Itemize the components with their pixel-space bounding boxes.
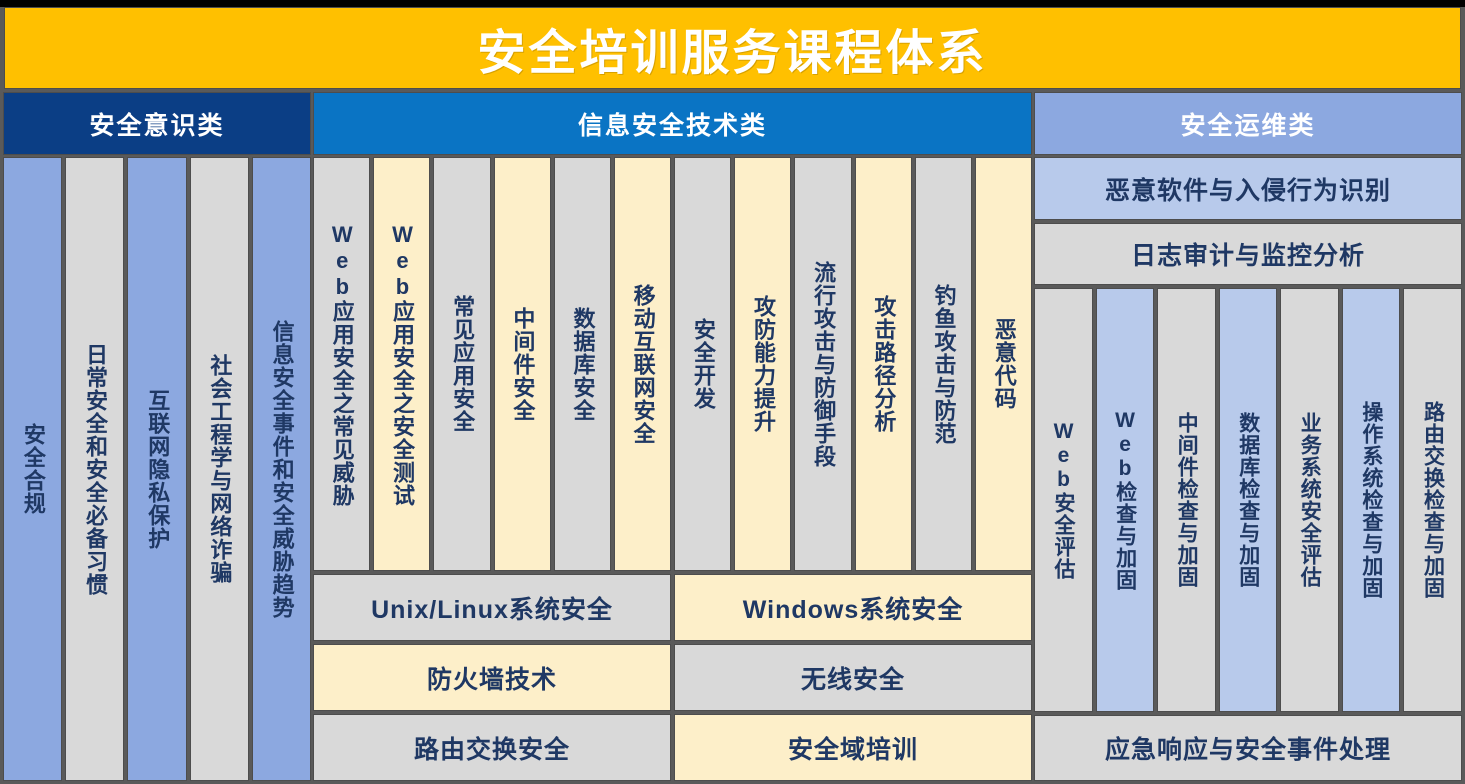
technology-bottom-row-0: Unix/Linux系统安全Windows系统安全	[313, 574, 1032, 641]
technology-bottom-rows: Unix/Linux系统安全Windows系统安全防火墙技术无线安全路由交换安全…	[313, 574, 1032, 781]
technology-item-0[interactable]: Web应用安全之常见威胁	[313, 157, 370, 571]
operations-item-2-label: 中间件检查与加固	[1176, 412, 1197, 588]
section-header-awareness-label: 安全意识类	[89, 106, 224, 142]
awareness-item-1-label: 日常安全和安全必备习惯	[84, 343, 106, 596]
technology-bottom-2-cell-1-label: 安全域培训	[788, 730, 918, 766]
technology-item-7-label: 攻防能力提升	[752, 295, 774, 433]
awareness-item-4[interactable]: 信息安全事件和安全威胁趋势	[252, 157, 311, 781]
awareness-item-3[interactable]: 社会工程学与网络诈骗	[190, 157, 249, 781]
technology-bottom-2-cell-0-label: 路由交换安全	[414, 730, 570, 766]
technology-item-1[interactable]: Web应用安全之安全测试	[373, 157, 430, 571]
technology-item-4-label: 数据库安全	[571, 307, 593, 422]
operations-item-0[interactable]: Web安全评估	[1034, 288, 1093, 712]
operations-row-logaudit-label: 日志审计与监控分析	[1131, 236, 1365, 272]
section-header-operations-label: 安全运维类	[1180, 106, 1315, 142]
operations-item-0-label: Web安全评估	[1053, 420, 1074, 580]
awareness-item-2[interactable]: 互联网隐私保护	[127, 157, 186, 781]
technology-item-8[interactable]: 流行攻击与防御手段	[794, 157, 851, 571]
technology-item-2-label: 常见应用安全	[451, 295, 473, 433]
operations-item-4[interactable]: 业务系统安全评估	[1280, 288, 1339, 712]
operations-stack: 恶意软件与入侵行为识别 日志审计与监控分析 Web安全评估Web检查与加固中间件…	[1034, 157, 1462, 781]
technology-bottom-1-cell-0-label: 防火墙技术	[427, 660, 557, 696]
operations-row-incident[interactable]: 应急响应与安全事件处理	[1034, 715, 1462, 781]
awareness-item-1[interactable]: 日常安全和安全必备习惯	[65, 157, 124, 781]
technology-bottom-0-cell-0-label: Unix/Linux系统安全	[371, 590, 613, 626]
operations-column-list: Web安全评估Web检查与加固中间件检查与加固数据库检查与加固业务系统安全评估操…	[1034, 288, 1462, 712]
technology-bottom-row-1: 防火墙技术无线安全	[313, 644, 1032, 711]
top-black-strip	[0, 0, 1465, 7]
section-header-awareness[interactable]: 安全意识类	[3, 92, 311, 155]
operations-item-4-label: 业务系统安全评估	[1299, 412, 1320, 588]
technology-item-1-label: Web应用安全之安全测试	[391, 222, 413, 507]
page-title: 安全培训服务课程体系	[477, 13, 987, 83]
technology-item-10[interactable]: 钓鱼攻击与防范	[915, 157, 972, 571]
operations-item-6[interactable]: 路由交换检查与加固	[1403, 288, 1462, 712]
section-header-technology-label: 信息安全技术类	[578, 106, 767, 142]
technology-bottom-1-cell-1[interactable]: 无线安全	[674, 644, 1032, 711]
technology-item-5-label: 移动互联网安全	[631, 284, 653, 445]
technology-item-5[interactable]: 移动互联网安全	[614, 157, 671, 571]
technology-bottom-row-2: 路由交换安全安全域培训	[313, 714, 1032, 781]
technology-item-6-label: 安全开发	[691, 318, 713, 410]
technology-bottom-0-cell-0[interactable]: Unix/Linux系统安全	[313, 574, 671, 641]
operations-row-incident-label: 应急响应与安全事件处理	[1105, 730, 1391, 766]
technology-item-2[interactable]: 常见应用安全	[433, 157, 490, 571]
operations-item-1-label: Web检查与加固	[1114, 409, 1135, 591]
section-body-operations: 恶意软件与入侵行为识别 日志审计与监控分析 Web安全评估Web检查与加固中间件…	[1034, 157, 1462, 781]
awareness-item-0-label: 安全合规	[21, 423, 43, 515]
awareness-item-0[interactable]: 安全合规	[3, 157, 62, 781]
technology-item-4[interactable]: 数据库安全	[554, 157, 611, 571]
technology-column-list: Web应用安全之常见威胁Web应用安全之安全测试常见应用安全中间件安全数据库安全…	[313, 157, 1032, 571]
technology-bottom-1-cell-1-label: 无线安全	[801, 660, 905, 696]
technology-bottom-1-cell-0[interactable]: 防火墙技术	[313, 644, 671, 711]
technology-item-11[interactable]: 恶意代码	[975, 157, 1032, 571]
technology-item-3[interactable]: 中间件安全	[494, 157, 551, 571]
awareness-column-list: 安全合规日常安全和安全必备习惯互联网隐私保护社会工程学与网络诈骗信息安全事件和安…	[3, 157, 311, 781]
operations-row-logaudit[interactable]: 日志审计与监控分析	[1034, 223, 1462, 285]
operations-item-5-label: 操作系统检查与加固	[1360, 401, 1381, 599]
awareness-item-4-label: 信息安全事件和安全威胁趋势	[270, 320, 292, 619]
operations-row-malware-label: 恶意软件与入侵行为识别	[1105, 171, 1391, 207]
operations-item-5[interactable]: 操作系统检查与加固	[1342, 288, 1401, 712]
technology-item-3-label: 中间件安全	[511, 307, 533, 422]
technology-item-11-label: 恶意代码	[992, 318, 1014, 410]
technology-bottom-0-cell-1-label: Windows系统安全	[743, 590, 964, 626]
course-system-diagram: 安全培训服务课程体系 安全意识类 信息安全技术类 安全运维类 安全合规日常安全和…	[0, 0, 1465, 784]
technology-item-8-label: 流行攻击与防御手段	[812, 261, 834, 468]
awareness-item-2-label: 互联网隐私保护	[146, 389, 168, 550]
technology-item-0-label: Web应用安全之常见威胁	[330, 222, 352, 507]
operations-item-6-label: 路由交换检查与加固	[1422, 401, 1443, 599]
technology-item-10-label: 钓鱼攻击与防范	[932, 284, 954, 445]
technology-item-9-label: 攻击路径分析	[872, 295, 894, 433]
operations-item-3[interactable]: 数据库检查与加固	[1219, 288, 1278, 712]
section-body-technology: Web应用安全之常见威胁Web应用安全之安全测试常见应用安全中间件安全数据库安全…	[313, 157, 1032, 781]
technology-item-6[interactable]: 安全开发	[674, 157, 731, 571]
technology-item-7[interactable]: 攻防能力提升	[734, 157, 791, 571]
operations-item-2[interactable]: 中间件检查与加固	[1157, 288, 1216, 712]
operations-row-malware[interactable]: 恶意软件与入侵行为识别	[1034, 157, 1462, 220]
technology-bottom-2-cell-1[interactable]: 安全域培训	[674, 714, 1032, 781]
operations-item-1[interactable]: Web检查与加固	[1096, 288, 1155, 712]
section-body-awareness: 安全合规日常安全和安全必备习惯互联网隐私保护社会工程学与网络诈骗信息安全事件和安…	[3, 157, 311, 781]
technology-item-9[interactable]: 攻击路径分析	[855, 157, 912, 571]
section-header-operations[interactable]: 安全运维类	[1034, 92, 1462, 155]
section-header-technology[interactable]: 信息安全技术类	[313, 92, 1032, 155]
technology-bottom-2-cell-0[interactable]: 路由交换安全	[313, 714, 671, 781]
operations-item-3-label: 数据库检查与加固	[1237, 412, 1258, 588]
page-title-bar: 安全培训服务课程体系	[4, 7, 1461, 89]
awareness-item-3-label: 社会工程学与网络诈骗	[208, 354, 230, 584]
technology-bottom-0-cell-1[interactable]: Windows系统安全	[674, 574, 1032, 641]
